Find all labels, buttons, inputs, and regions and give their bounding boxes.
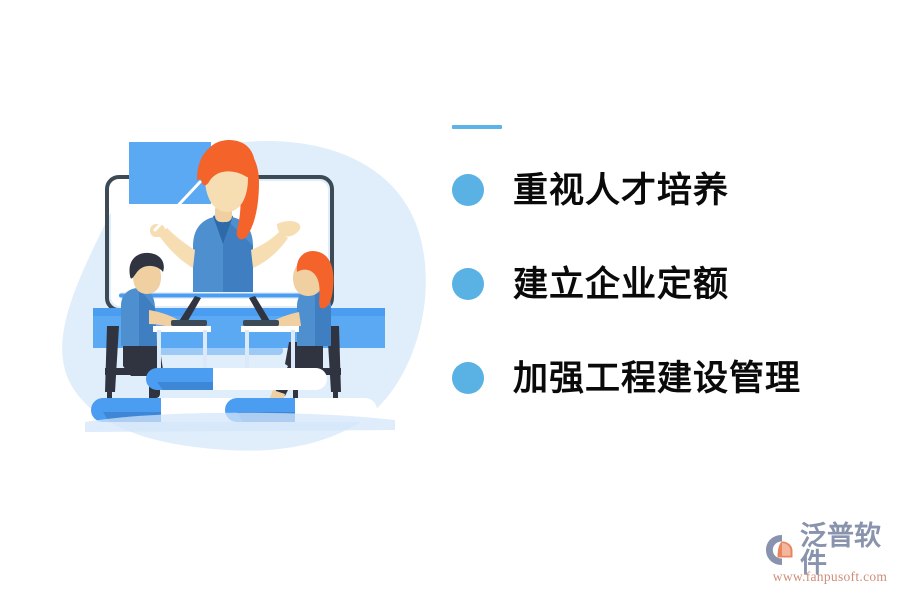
bullet-label: 加强工程建设管理 — [513, 361, 801, 396]
bullet-label: 重视人才培养 — [513, 173, 729, 208]
bullet-dot-icon — [452, 362, 484, 394]
book-stack-upper — [146, 368, 327, 390]
online-training-illustration — [45, 120, 435, 470]
logo-url-text: www.fanpusoft.com — [765, 569, 895, 585]
bullet-label: 建立企业定额 — [513, 267, 729, 302]
fanpu-logo-icon — [765, 534, 799, 566]
illustration-svg — [45, 120, 435, 470]
chair-right-leg2 — [333, 373, 338, 401]
logo-row: 泛普软件 — [765, 532, 895, 568]
chair-left-leg1 — [107, 373, 112, 401]
table-right-top — [241, 326, 299, 332]
list-item[interactable]: 重视人才培养 — [452, 161, 872, 219]
accent-underline — [452, 125, 502, 129]
book-upper-spine-shade — [157, 382, 213, 390]
list-item[interactable]: 建立企业定额 — [452, 255, 872, 313]
brand-logo[interactable]: 泛普软件 www.fanpusoft.com — [765, 532, 895, 588]
laptop-right-base — [243, 320, 279, 326]
list-item[interactable]: 加强工程建设管理 — [452, 349, 872, 407]
laptop-left-base — [171, 320, 207, 326]
bullet-dot-icon — [452, 174, 484, 206]
slide-canvas: 重视人才培养 建立企业定额 加强工程建设管理 泛普软件 www.fanpusof… — [0, 0, 900, 600]
bullet-dot-icon — [452, 268, 484, 300]
bullet-list: 重视人才培养 建立企业定额 加强工程建设管理 — [452, 161, 872, 407]
bullet-content: 重视人才培养 建立企业定额 加强工程建设管理 — [452, 125, 872, 407]
table-left-top — [153, 326, 211, 332]
